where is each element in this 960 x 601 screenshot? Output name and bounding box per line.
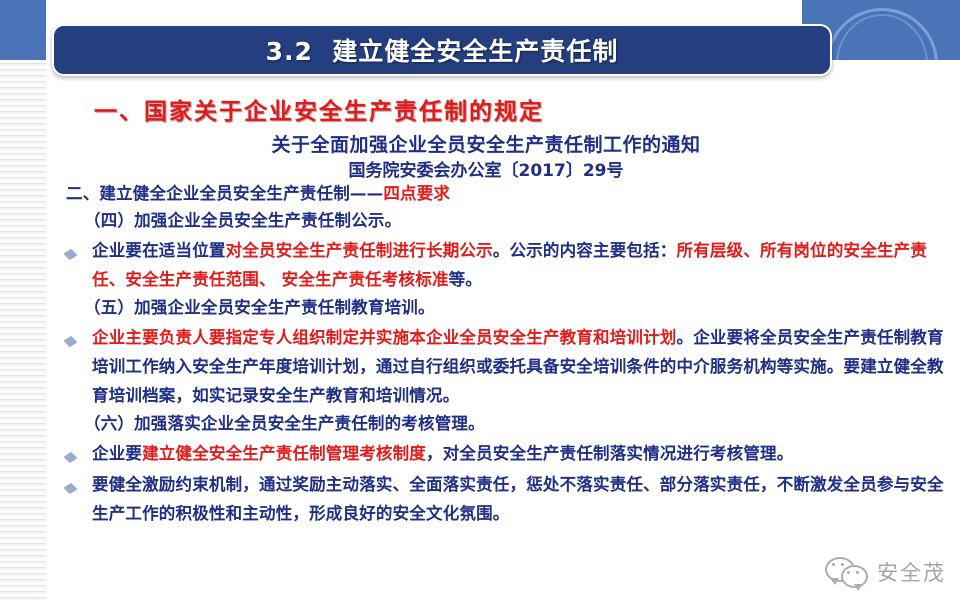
bullet-segment: ，对全员安全生产责任制落实情况进行考核管理。: [426, 444, 793, 463]
bullet-text: 企业要在适当位置对全员安全生产责任制进行长期公示。公示的内容主要包括：所有层级、…: [92, 236, 956, 294]
bullet-segment: 。公示的内容主要包括：: [493, 241, 677, 260]
section-one-heading: 一、国家关于企业安全生产责任制的规定: [94, 92, 544, 126]
slide-canvas: 3.2 建立健全安全生产责任制 一、国家关于企业安全生产责任制的规定 关于全面加…: [0, 0, 960, 601]
bullet-segment: 对全员安全生产责任制进行长期公示: [226, 241, 493, 260]
bullet-text: 要健全激励约束机制，通过奖励主动落实、全面落实责任，惩处不落实责任、部分落实责任…: [92, 470, 956, 528]
item-heading-4: （四）加强企业全员安全生产责任制公示。: [66, 207, 956, 234]
bullet-segment: 企业要: [92, 444, 142, 463]
slide-content: 一、国家关于企业安全生产责任制的规定 关于全面加强企业全员安全生产责任制工作的通…: [46, 84, 960, 554]
watermark-label: 安全茂: [877, 557, 946, 587]
diamond-bullet-icon: [66, 323, 92, 350]
left-stripe-decoration: [0, 60, 46, 601]
bullet-segment: 要健全激励约束机制，通过奖励主动落实、全面落实责任，惩处不落实责任、部分落实责任…: [92, 475, 944, 523]
slide-title-bar: 3.2 建立健全安全生产责任制: [52, 24, 832, 76]
bullet-segment: 建立健全安全生产责任制管理考核制度: [142, 444, 426, 463]
document-number: 国务院安委会办公室〔2017〕29号: [46, 156, 926, 181]
bullet-segment: 等。: [449, 270, 482, 289]
item-heading-6: （六）加强落实企业全员安全生产责任制的考核管理。: [66, 410, 956, 437]
bullet-item: 企业要建立健全安全生产责任制管理考核制度，对全员安全生产责任制落实情况进行考核管…: [66, 439, 956, 468]
page-title: 3.2 建立健全安全生产责任制: [266, 32, 619, 68]
top-left-blue-block: [0, 0, 46, 60]
diamond-bullet-icon: [66, 439, 92, 466]
body-block: 二、建立健全企业全员安全生产责任制——四点要求 （四）加强企业全员安全生产责任制…: [66, 180, 956, 528]
bullet-item: 企业主要负责人要指定专人组织制定并实施本企业全员安全生产教育和培训计划。企业要将…: [66, 323, 956, 410]
section-two-prefix: 二、建立健全企业全员安全生产责任制——: [66, 184, 383, 203]
diamond-bullet-icon: [66, 470, 92, 497]
item-heading-5: （五）加强企业全员安全生产责任制教育培训。: [66, 294, 956, 321]
section-two-heading: 二、建立健全企业全员安全生产责任制——四点要求: [66, 180, 956, 207]
section-two-highlight: 四点要求: [383, 184, 450, 203]
wechat-icon: [825, 555, 869, 589]
bullet-item: 企业要在适当位置对全员安全生产责任制进行长期公示。公示的内容主要包括：所有层级、…: [66, 236, 956, 294]
document-title: 关于全面加强企业全员安全生产责任制工作的通知: [46, 130, 926, 157]
bullet-text: 企业要建立健全安全生产责任制管理考核制度，对全员安全生产责任制落实情况进行考核管…: [92, 439, 956, 468]
diamond-bullet-icon: [66, 236, 92, 263]
bullet-item: 要健全激励约束机制，通过奖励主动落实、全面落实责任，惩处不落实责任、部分落实责任…: [66, 470, 956, 528]
watermark: 安全茂: [825, 555, 946, 589]
bullet-text: 企业主要负责人要指定专人组织制定并实施本企业全员安全生产教育和培训计划。企业要将…: [92, 323, 956, 410]
bullet-segment: 企业主要负责人要指定专人组织制定并实施本企业全员安全生产教育和培训计划: [92, 328, 677, 347]
bullet-segment: 企业要在适当位置: [92, 241, 226, 260]
